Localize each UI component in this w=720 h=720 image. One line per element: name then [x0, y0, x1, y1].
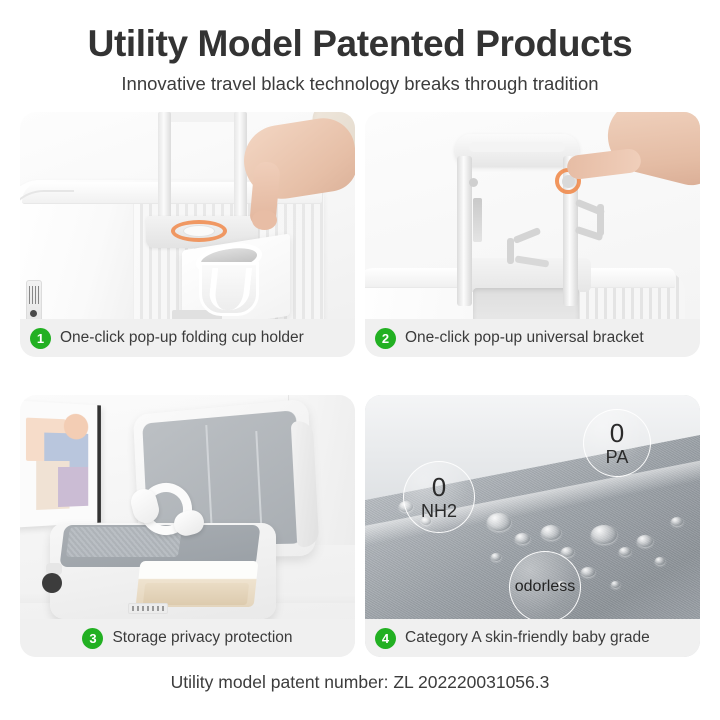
feature-caption-text: One-click pop-up folding cup holder: [60, 329, 304, 347]
suitcase-bracket-icon: [365, 112, 700, 319]
fabric-bubble-pa: 0 PA: [583, 409, 651, 477]
feature-caption-text: Category A skin-friendly baby grade: [405, 629, 650, 647]
suitcase-cup-holder-icon: [20, 112, 355, 319]
feature-card-2[interactable]: 2 One-click pop-up universal bracket: [365, 112, 700, 357]
bubble-word: odorless: [515, 578, 575, 596]
page-title: Utility Model Patented Products: [0, 22, 720, 66]
feature-caption-1: 1 One-click pop-up folding cup holder: [20, 319, 355, 357]
hand-pressing-icon: [216, 112, 355, 234]
feature-card-3[interactable]: 3 Storage privacy protection: [20, 395, 355, 657]
step-badge: 2: [375, 328, 396, 349]
wheel-icon: [42, 573, 62, 593]
fabric-bubble-odorless: odorless: [509, 551, 581, 619]
header: Utility Model Patented Products Innovati…: [0, 0, 720, 98]
product-feature-infographic: Utility Model Patented Products Innovati…: [0, 0, 720, 720]
bubble-unit: PA: [606, 447, 629, 467]
framed-artwork-icon: [20, 400, 101, 527]
feature-caption-text: One-click pop-up universal bracket: [405, 329, 644, 347]
patent-number-footer: Utility model patent number: ZL 20222003…: [0, 672, 720, 693]
feature-caption-4: 4 Category A skin-friendly baby grade: [365, 619, 700, 657]
feature-caption-3: 3 Storage privacy protection: [20, 619, 355, 657]
step-badge: 3: [82, 628, 103, 649]
bubble-value: 0: [432, 474, 446, 501]
waterproof-fabric-icon: 0 NH2 0 PA odorless: [365, 395, 700, 619]
feature-caption-text: Storage privacy protection: [112, 629, 292, 647]
fabric-bubble-nh2: 0 NH2: [403, 461, 475, 533]
hand-pressing-icon: [571, 112, 700, 212]
feature-card-4[interactable]: 0 NH2 0 PA odorless 4 Category A skin-fr…: [365, 395, 700, 657]
feature-card-1[interactable]: 1 One-click pop-up folding cup holder: [20, 112, 355, 357]
feature-caption-2: 2 One-click pop-up universal bracket: [365, 319, 700, 357]
step-badge: 4: [375, 628, 396, 649]
feature-card-grid: 1 One-click pop-up folding cup holder: [20, 112, 700, 657]
step-badge: 1: [30, 328, 51, 349]
open-suitcase-icon: [20, 395, 355, 619]
page-subtitle: Innovative travel black technology break…: [0, 70, 720, 98]
bubble-value: 0: [610, 420, 624, 447]
bubble-unit: NH2: [421, 501, 457, 521]
